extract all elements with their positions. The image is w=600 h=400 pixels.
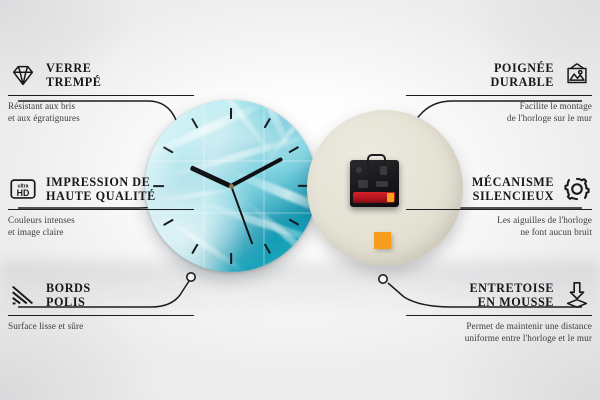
feature-divider <box>406 315 592 316</box>
infographic-canvas: VERRE TREMPÉ Résistant aux bris et aux é… <box>0 0 600 400</box>
feature-divider <box>406 95 592 96</box>
feature-header: MÉCANISME SILENCIEUX <box>406 172 592 206</box>
mechanism-battery <box>353 192 395 203</box>
feature-header: ENTRETOISE EN MOUSSE <box>406 278 592 312</box>
clock-center-pin <box>229 184 234 189</box>
feature-divider <box>8 315 194 316</box>
feature-entretoise-en-mousse: ENTRETOISE EN MOUSSE Permet de maintenir… <box>406 278 592 345</box>
feature-header: POIGNÉE DURABLE <box>406 58 592 92</box>
feature-title: MÉCANISME SILENCIEUX <box>472 175 554 203</box>
feature-verre-trempe: VERRE TREMPÉ Résistant aux bris et aux é… <box>8 58 194 125</box>
feature-title: BORDS POLIS <box>46 281 91 309</box>
feature-poignee-durable: POIGNÉE DURABLE Facilite le montage de l… <box>406 58 592 125</box>
feature-description: Permet de maintenir une distance uniform… <box>406 320 592 345</box>
diamond-icon <box>8 60 38 90</box>
feature-title: VERRE TREMPÉ <box>46 61 101 89</box>
clock-mechanism <box>350 160 399 207</box>
polished-edges-icon <box>8 280 38 310</box>
clock-tick <box>230 253 232 264</box>
clock-tick <box>230 108 232 119</box>
feature-divider <box>8 95 194 96</box>
feature-header: ultra HD IMPRESSION DE HAUTE QUALITÉ <box>8 172 194 206</box>
feature-bords-polis: BORDS POLIS Surface lisse et sûre <box>8 278 194 332</box>
framed-picture-icon <box>562 60 592 90</box>
feature-header: VERRE TREMPÉ <box>8 58 194 92</box>
feature-title: POIGNÉE DURABLE <box>491 61 554 89</box>
feature-description: Couleurs intenses et image claire <box>8 214 194 239</box>
mechanism-hanger-icon <box>367 154 386 165</box>
feature-description: Les aiguilles de l'horloge ne font aucun… <box>406 214 592 239</box>
feature-description: Surface lisse et sûre <box>8 320 194 332</box>
feature-divider <box>8 209 194 210</box>
svg-text:HD: HD <box>17 188 30 198</box>
feature-title: ENTRETOISE EN MOUSSE <box>469 281 554 309</box>
feature-divider <box>406 209 592 210</box>
gear-icon <box>562 174 592 204</box>
battery-positive-terminal <box>387 193 394 202</box>
feature-impression-haute-qualite: ultra HD IMPRESSION DE HAUTE QUALITÉ Cou… <box>8 172 194 239</box>
feature-title: IMPRESSION DE HAUTE QUALITÉ <box>46 175 156 203</box>
feature-header: BORDS POLIS <box>8 278 194 312</box>
foam-spacer-square <box>374 232 391 249</box>
foam-spacer-icon <box>562 280 592 310</box>
feature-description: Facilite le montage de l'horloge sur le … <box>406 100 592 125</box>
feature-mecanisme-silencieux: MÉCANISME SILENCIEUX Les aiguilles de l'… <box>406 172 592 239</box>
wire-dot-entretoise <box>379 275 387 283</box>
ultra-hd-icon: ultra HD <box>8 174 38 204</box>
feature-description: Résistant aux bris et aux égratignures <box>8 100 194 125</box>
